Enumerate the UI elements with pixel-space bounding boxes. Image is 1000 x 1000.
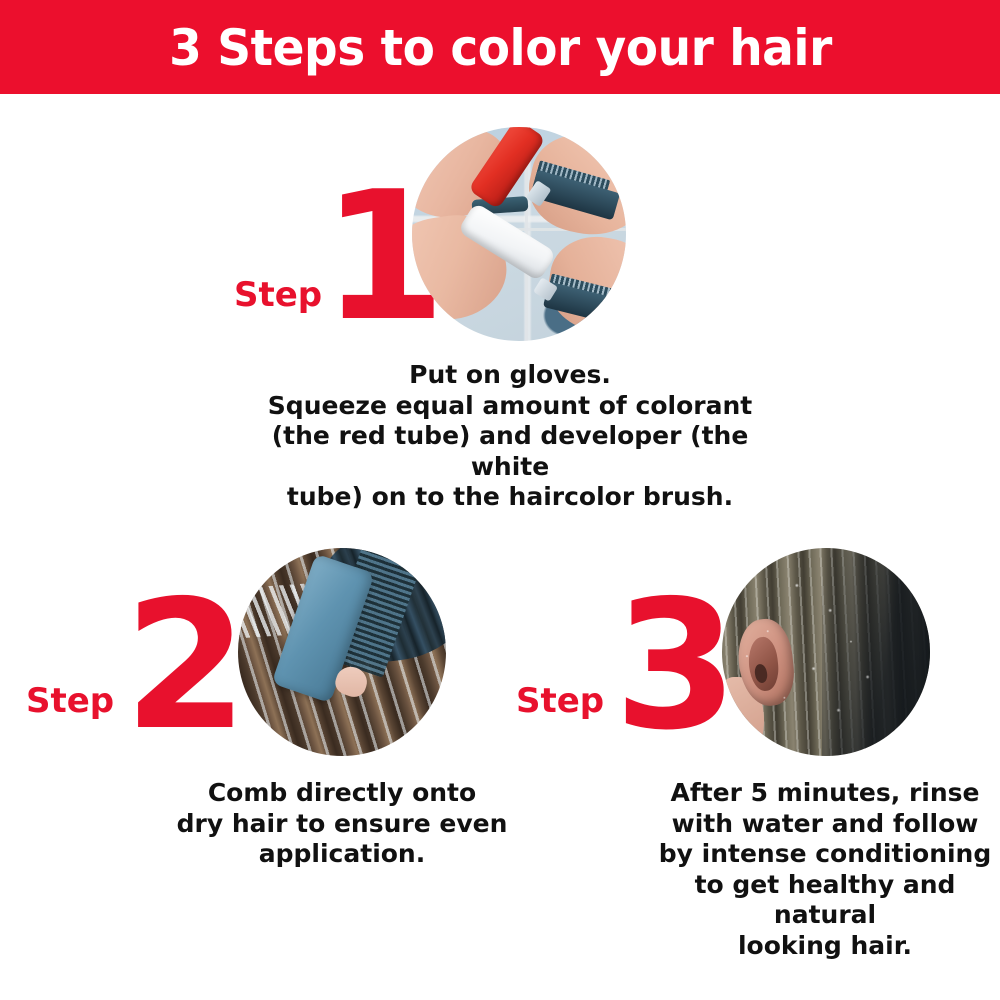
step-3-label: Step [516,684,604,718]
step-3-number: 3 [614,577,738,755]
step-2-photo-comb-onto-dry-hair [238,548,446,756]
step-2-caption: Comb directly onto dry hair to ensure ev… [168,778,516,870]
water-droplets [722,548,930,756]
step-3-photo-rinse-with-water [722,548,930,756]
step-3-caption: After 5 minutes, rinse with water and fo… [655,778,995,961]
step-1-caption: Put on gloves. Squeeze equal amount of c… [260,360,760,513]
step-1-label: Step [234,278,322,312]
step-2-number: 2 [124,577,248,755]
step-2-label: Step [26,684,114,718]
header-banner: 3 Steps to color your hair [0,0,1000,94]
step-1-photo-squeeze-tubes-onto-brush [412,127,626,341]
page-title: 3 Steps to color your hair [169,23,832,73]
